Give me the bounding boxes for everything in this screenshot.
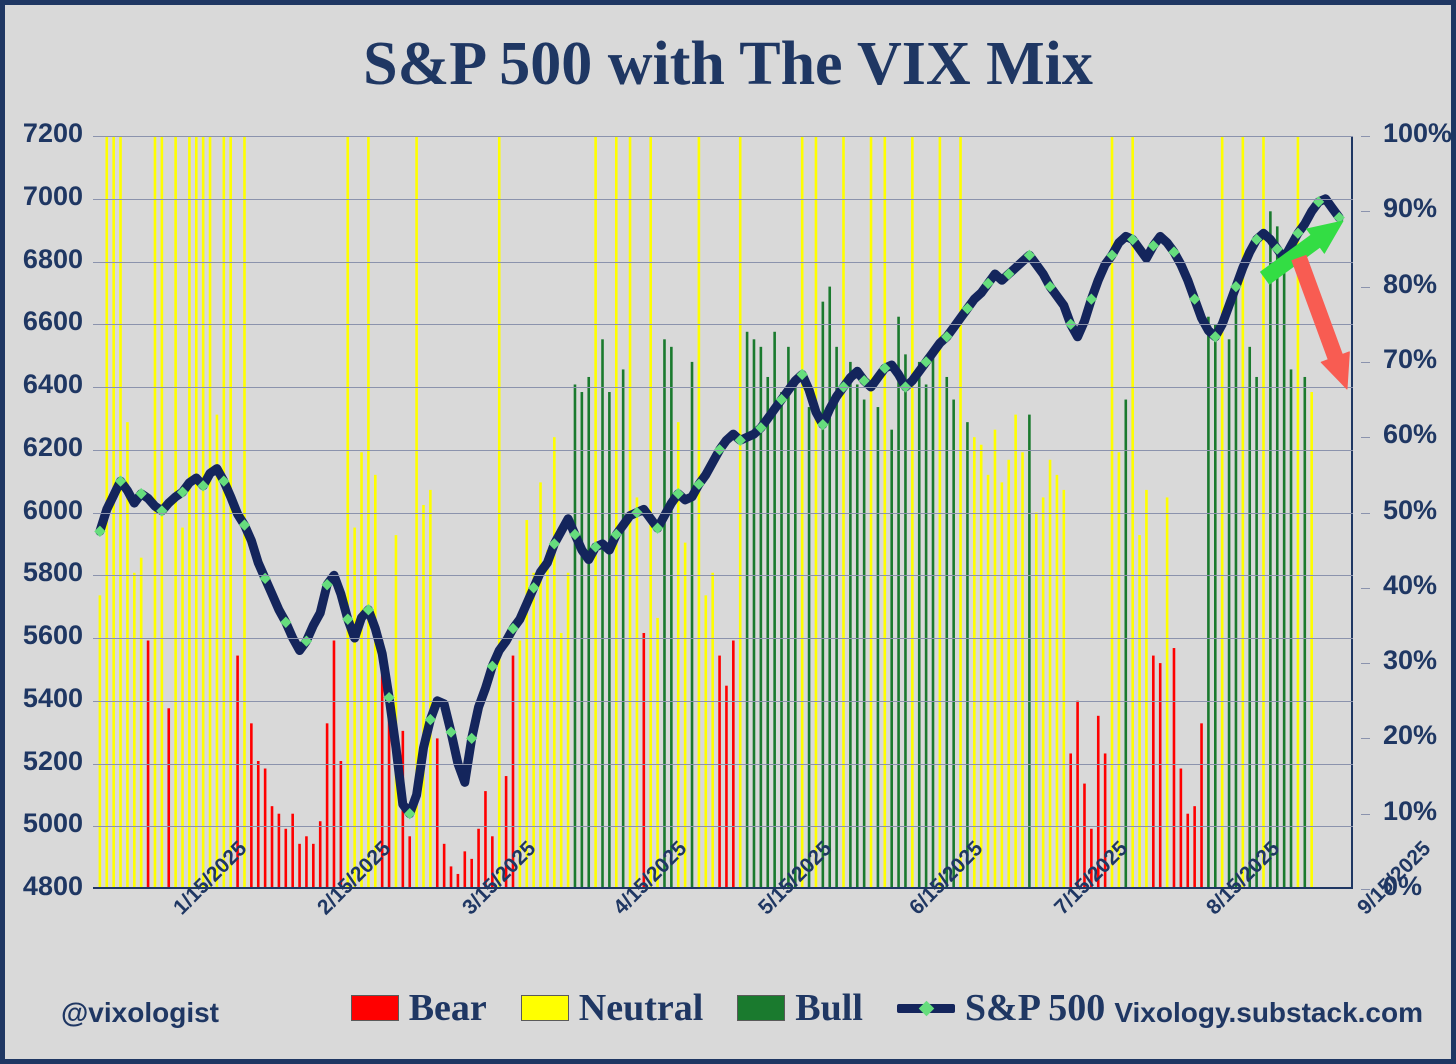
legend-label: S&P 500 [965, 989, 1105, 1027]
y-axis-right-tickmark [1361, 437, 1370, 438]
y-axis-right-tickmark [1361, 663, 1370, 664]
chart-screenshot: S&P 500 with The VIX Mix 720070006800660… [0, 0, 1456, 1064]
y-axis-right-tick: 80% [1383, 269, 1437, 300]
y-axis-right-tick: 50% [1383, 495, 1437, 526]
x-axis: 1/15/20252/15/20253/15/20254/15/20255/15… [93, 897, 1353, 997]
y-axis-right-tickmark [1361, 814, 1370, 815]
y-axis-right-tickmark [1361, 211, 1370, 212]
y-axis-right-tick: 40% [1383, 570, 1437, 601]
legend-label: Bear [409, 989, 487, 1027]
y-axis-right-tick: 30% [1383, 645, 1437, 676]
y-axis-right-tick: 20% [1383, 720, 1437, 751]
chart-legend: BearNeutralBullS&P 500 [5, 989, 1451, 1027]
y-axis-right-tickmark [1361, 362, 1370, 363]
footer: @vixologist Vixology.substack.com BearNe… [5, 987, 1451, 1049]
y-axis-right-tickmark [1361, 136, 1370, 137]
y-axis-right: 100%90%80%70%60%50%40%30%20%10%0% [1371, 136, 1456, 889]
y-axis-right-tick: 70% [1383, 344, 1437, 375]
legend-swatch [521, 995, 569, 1021]
legend-item[interactable]: Bear [351, 989, 487, 1027]
downtrend-arrow [1285, 253, 1361, 394]
y-axis-right-tickmark [1361, 738, 1370, 739]
legend-swatch [737, 995, 785, 1021]
legend-label: Bull [795, 989, 863, 1027]
y-axis-right-tick: 90% [1383, 193, 1437, 224]
y-axis-right-tick: 10% [1383, 796, 1437, 827]
legend-swatch [351, 995, 399, 1021]
legend-item[interactable]: Neutral [521, 989, 704, 1027]
y-axis-right-tickmark [1361, 513, 1370, 514]
y-axis-right-tickmark [1361, 588, 1370, 589]
y-axis-right-tick: 100% [1383, 118, 1452, 149]
y-axis-right-tickmark [1361, 287, 1370, 288]
legend-line-marker [897, 995, 955, 1021]
legend-label: Neutral [579, 989, 704, 1027]
y-axis-right-tick: 60% [1383, 419, 1437, 450]
legend-item[interactable]: Bull [737, 989, 863, 1027]
legend-item[interactable]: S&P 500 [897, 989, 1105, 1027]
